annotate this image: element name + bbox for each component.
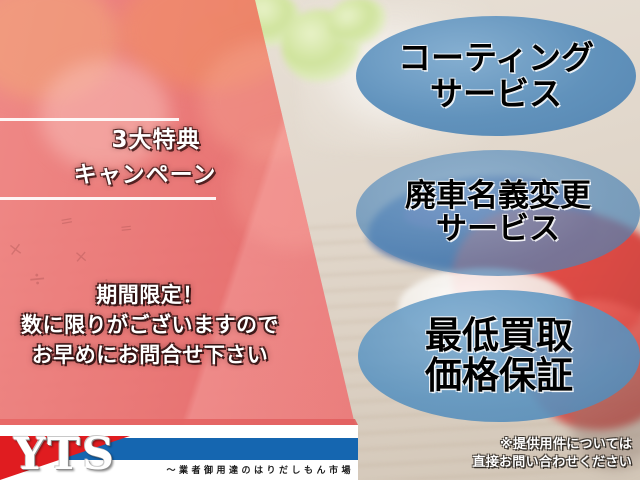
footnote-line-2: 直接お問い合わせください <box>472 454 632 472</box>
math-symbol: = <box>119 218 133 237</box>
badge-line-1: 最低買取 <box>425 316 573 356</box>
disclaimer-footnote: ※提供用件については 直接お問い合わせください <box>472 436 632 472</box>
campaign-body-copy: 期間限定！ 数に限りがございますので お早めにお問合せ下さい <box>0 280 300 370</box>
badge-line-1: コーティング <box>398 40 594 76</box>
divider-rule-top <box>0 118 179 121</box>
math-symbol: × <box>73 247 89 268</box>
headline-line-2: キャンペーン <box>0 158 290 193</box>
badge-line-1: 廃車名義変更 <box>405 180 591 213</box>
body-line-1: 期間限定！ <box>0 280 300 310</box>
badge-line-2: サービス <box>430 76 562 112</box>
service-badge-coating: コーティング サービス <box>356 16 636 136</box>
logo-bar: YTS 〜業者御用達のはりだしもん市場 <box>0 425 358 480</box>
body-line-2: 数に限りがございますので <box>0 310 300 340</box>
math-symbol: = <box>58 210 75 231</box>
footnote-line-1: ※提供用件については <box>472 436 632 454</box>
logo-wordmark: YTS <box>14 429 116 480</box>
badge-line-2: 価格保証 <box>425 356 573 396</box>
math-symbol: × <box>7 238 25 261</box>
campaign-headline: 3大特典 キャンペーン <box>0 123 290 193</box>
headline-line-1: 3大特典 <box>0 123 290 158</box>
promotional-banner: × ÷ = × ÷ = 3大特典 キャンペーン 期間限定！ 数に限りがございます… <box>0 0 640 480</box>
logo-tagline: 〜業者御用達のはりだしもん市場 <box>166 463 354 476</box>
badge-line-2: サービス <box>436 213 560 246</box>
body-line-3: お早めにお問合せ下さい <box>0 340 300 370</box>
service-badge-scrap-title-transfer: 廃車名義変更 サービス <box>356 150 640 276</box>
service-badge-minimum-price-guarantee: 最低買取 価格保証 <box>358 290 640 422</box>
divider-rule-bottom <box>0 197 216 200</box>
